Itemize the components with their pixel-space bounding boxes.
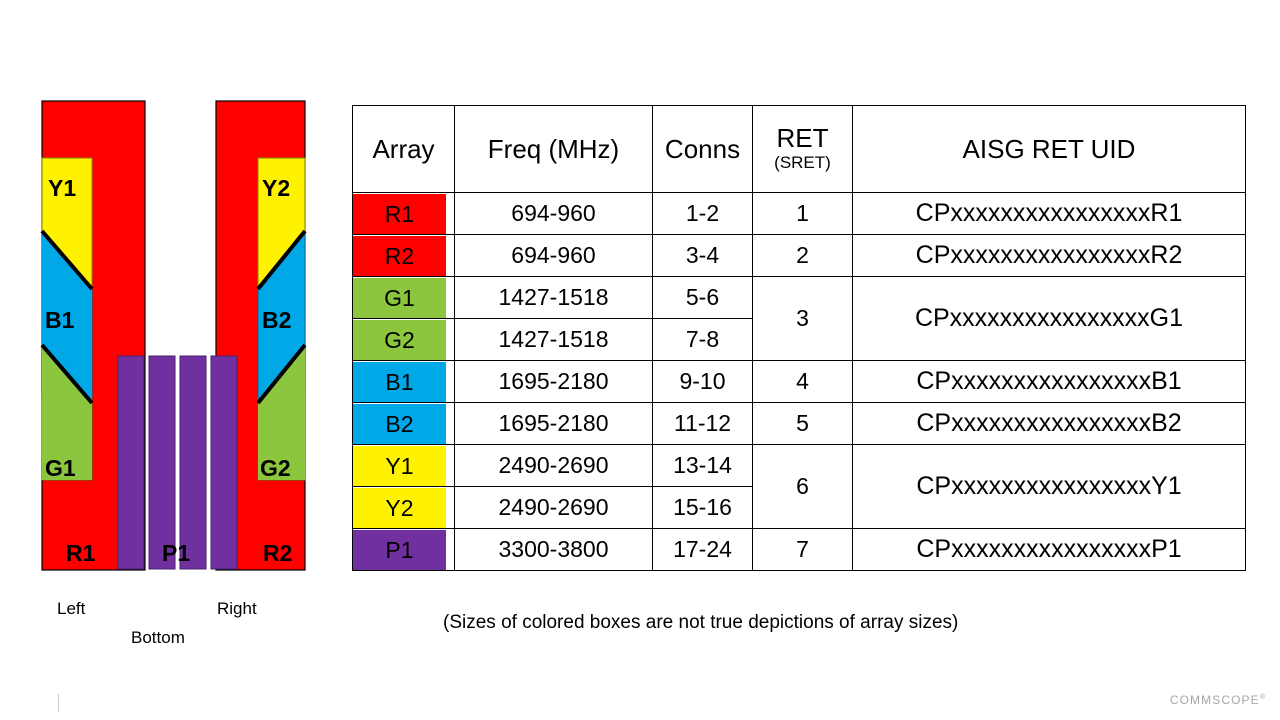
cell-ret-Y: 6 — [753, 445, 853, 529]
block-label-Y1: Y1 — [48, 175, 76, 201]
cell-freq-Y1: 2490-2690 — [455, 445, 653, 487]
table-body: R1 694-960 1-2 1 CPxxxxxxxxxxxxxxxxR1 R2… — [353, 193, 1246, 571]
block-label-G2: G2 — [260, 455, 291, 481]
cell-freq-B1: 1695-2180 — [455, 361, 653, 403]
diagram-caption: (Sizes of colored boxes are not true dep… — [443, 612, 958, 634]
cell-uid-R2: CPxxxxxxxxxxxxxxxxR2 — [853, 235, 1246, 277]
cell-array-R1: R1 — [353, 193, 455, 235]
cell-array-G2: G2 — [353, 319, 455, 361]
cell-array-R2: R2 — [353, 235, 455, 277]
cell-array-Y1: Y1 — [353, 445, 455, 487]
table-row-B2: B2 1695-2180 11-12 5 CPxxxxxxxxxxxxxxxxB… — [353, 403, 1246, 445]
array-swatch-Y1: Y1 — [353, 446, 446, 486]
block-label-B2: B2 — [262, 307, 291, 333]
header-array: Array — [353, 106, 455, 193]
table-row-P1: P1 3300-3800 17-24 7 CPxxxxxxxxxxxxxxxxP… — [353, 529, 1246, 571]
cell-freq-Y2: 2490-2690 — [455, 487, 653, 529]
block-P1-bar-2 — [149, 356, 175, 569]
cell-array-B2: B2 — [353, 403, 455, 445]
array-swatch-P1: P1 — [353, 530, 446, 570]
cell-freq-R1: 694-960 — [455, 193, 653, 235]
array-swatch-B1: B1 — [353, 362, 446, 402]
block-label-B1: B1 — [45, 307, 75, 333]
cell-freq-P1: 3300-3800 — [455, 529, 653, 571]
cell-array-B1: B1 — [353, 361, 455, 403]
cell-ret-R2: 2 — [753, 235, 853, 277]
footer-divider — [58, 694, 59, 712]
brand-name: COMMSCOPE — [1170, 693, 1260, 707]
block-P1-bar-3 — [180, 356, 206, 569]
cell-conns-B2: 11-12 — [653, 403, 753, 445]
array-swatch-G2: G2 — [353, 320, 446, 360]
ret-table-container: Array Freq (MHz) Conns RET (SRET) AISG R… — [352, 105, 1245, 571]
commscope-logo: COMMSCOPE® — [1170, 693, 1266, 707]
antenna-array-diagram: Y1 B1 G1 R1 Y2 B2 G2 R2 P1 Left Right Bo… — [0, 0, 340, 680]
ret-assignment-table: Array Freq (MHz) Conns RET (SRET) AISG R… — [352, 105, 1246, 571]
cell-conns-B1: 9-10 — [653, 361, 753, 403]
cell-uid-B2: CPxxxxxxxxxxxxxxxxB2 — [853, 403, 1246, 445]
array-swatch-B2: B2 — [353, 404, 446, 444]
cell-freq-G2: 1427-1518 — [455, 319, 653, 361]
table-row-R2: R2 694-960 3-4 2 CPxxxxxxxxxxxxxxxxR2 — [353, 235, 1246, 277]
cell-uid-R1: CPxxxxxxxxxxxxxxxxR1 — [853, 193, 1246, 235]
block-P1-bar-1 — [118, 356, 144, 569]
table-row-B1: B1 1695-2180 9-10 4 CPxxxxxxxxxxxxxxxxB1 — [353, 361, 1246, 403]
table-row-G1: G1 1427-1518 5-6 3 CPxxxxxxxxxxxxxxxxG1 — [353, 277, 1246, 319]
header-uid: AISG RET UID — [853, 106, 1246, 193]
cell-ret-G: 3 — [753, 277, 853, 361]
cell-conns-R1: 1-2 — [653, 193, 753, 235]
header-row: Array Freq (MHz) Conns RET (SRET) AISG R… — [353, 106, 1246, 193]
cell-conns-P1: 17-24 — [653, 529, 753, 571]
block-label-R2: R2 — [263, 540, 292, 566]
cell-array-Y2: Y2 — [353, 487, 455, 529]
cell-freq-R2: 694-960 — [455, 235, 653, 277]
cell-array-P1: P1 — [353, 529, 455, 571]
header-ret: RET (SRET) — [753, 106, 853, 193]
block-label-G1: G1 — [45, 455, 76, 481]
cell-conns-G1: 5-6 — [653, 277, 753, 319]
header-freq: Freq (MHz) — [455, 106, 653, 193]
brand-trademark: ® — [1260, 694, 1266, 701]
cell-uid-G: CPxxxxxxxxxxxxxxxxG1 — [853, 277, 1246, 361]
array-swatch-R2: R2 — [353, 236, 446, 276]
diagram-label-right: Right — [217, 599, 257, 619]
cell-uid-Y: CPxxxxxxxxxxxxxxxxY1 — [853, 445, 1246, 529]
table-row-Y1: Y1 2490-2690 13-14 6 CPxxxxxxxxxxxxxxxxY… — [353, 445, 1246, 487]
cell-freq-B2: 1695-2180 — [455, 403, 653, 445]
block-label-Y2: Y2 — [262, 175, 290, 201]
block-label-R1: R1 — [66, 540, 96, 566]
array-swatch-Y2: Y2 — [353, 488, 446, 528]
cell-ret-B2: 5 — [753, 403, 853, 445]
header-ret-main: RET — [753, 125, 852, 152]
block-P1-bar-4 — [211, 356, 237, 569]
cell-conns-R2: 3-4 — [653, 235, 753, 277]
array-swatch-G1: G1 — [353, 278, 446, 318]
cell-ret-R1: 1 — [753, 193, 853, 235]
cell-freq-G1: 1427-1518 — [455, 277, 653, 319]
cell-conns-Y2: 15-16 — [653, 487, 753, 529]
cell-array-G1: G1 — [353, 277, 455, 319]
diagram-label-left: Left — [57, 599, 85, 619]
cell-conns-G2: 7-8 — [653, 319, 753, 361]
cell-ret-B1: 4 — [753, 361, 853, 403]
cell-conns-Y1: 13-14 — [653, 445, 753, 487]
diagram-label-bottom: Bottom — [131, 628, 185, 648]
cell-uid-B1: CPxxxxxxxxxxxxxxxxB1 — [853, 361, 1246, 403]
array-layout-svg: Y1 B1 G1 R1 Y2 B2 G2 R2 P1 — [0, 0, 340, 600]
header-ret-sub: (SRET) — [753, 152, 852, 173]
table-header: Array Freq (MHz) Conns RET (SRET) AISG R… — [353, 106, 1246, 193]
cell-uid-P1: CPxxxxxxxxxxxxxxxxP1 — [853, 529, 1246, 571]
block-label-P1: P1 — [162, 540, 190, 566]
array-swatch-R1: R1 — [353, 194, 446, 234]
table-row-R1: R1 694-960 1-2 1 CPxxxxxxxxxxxxxxxxR1 — [353, 193, 1246, 235]
header-conns: Conns — [653, 106, 753, 193]
cell-ret-P1: 7 — [753, 529, 853, 571]
